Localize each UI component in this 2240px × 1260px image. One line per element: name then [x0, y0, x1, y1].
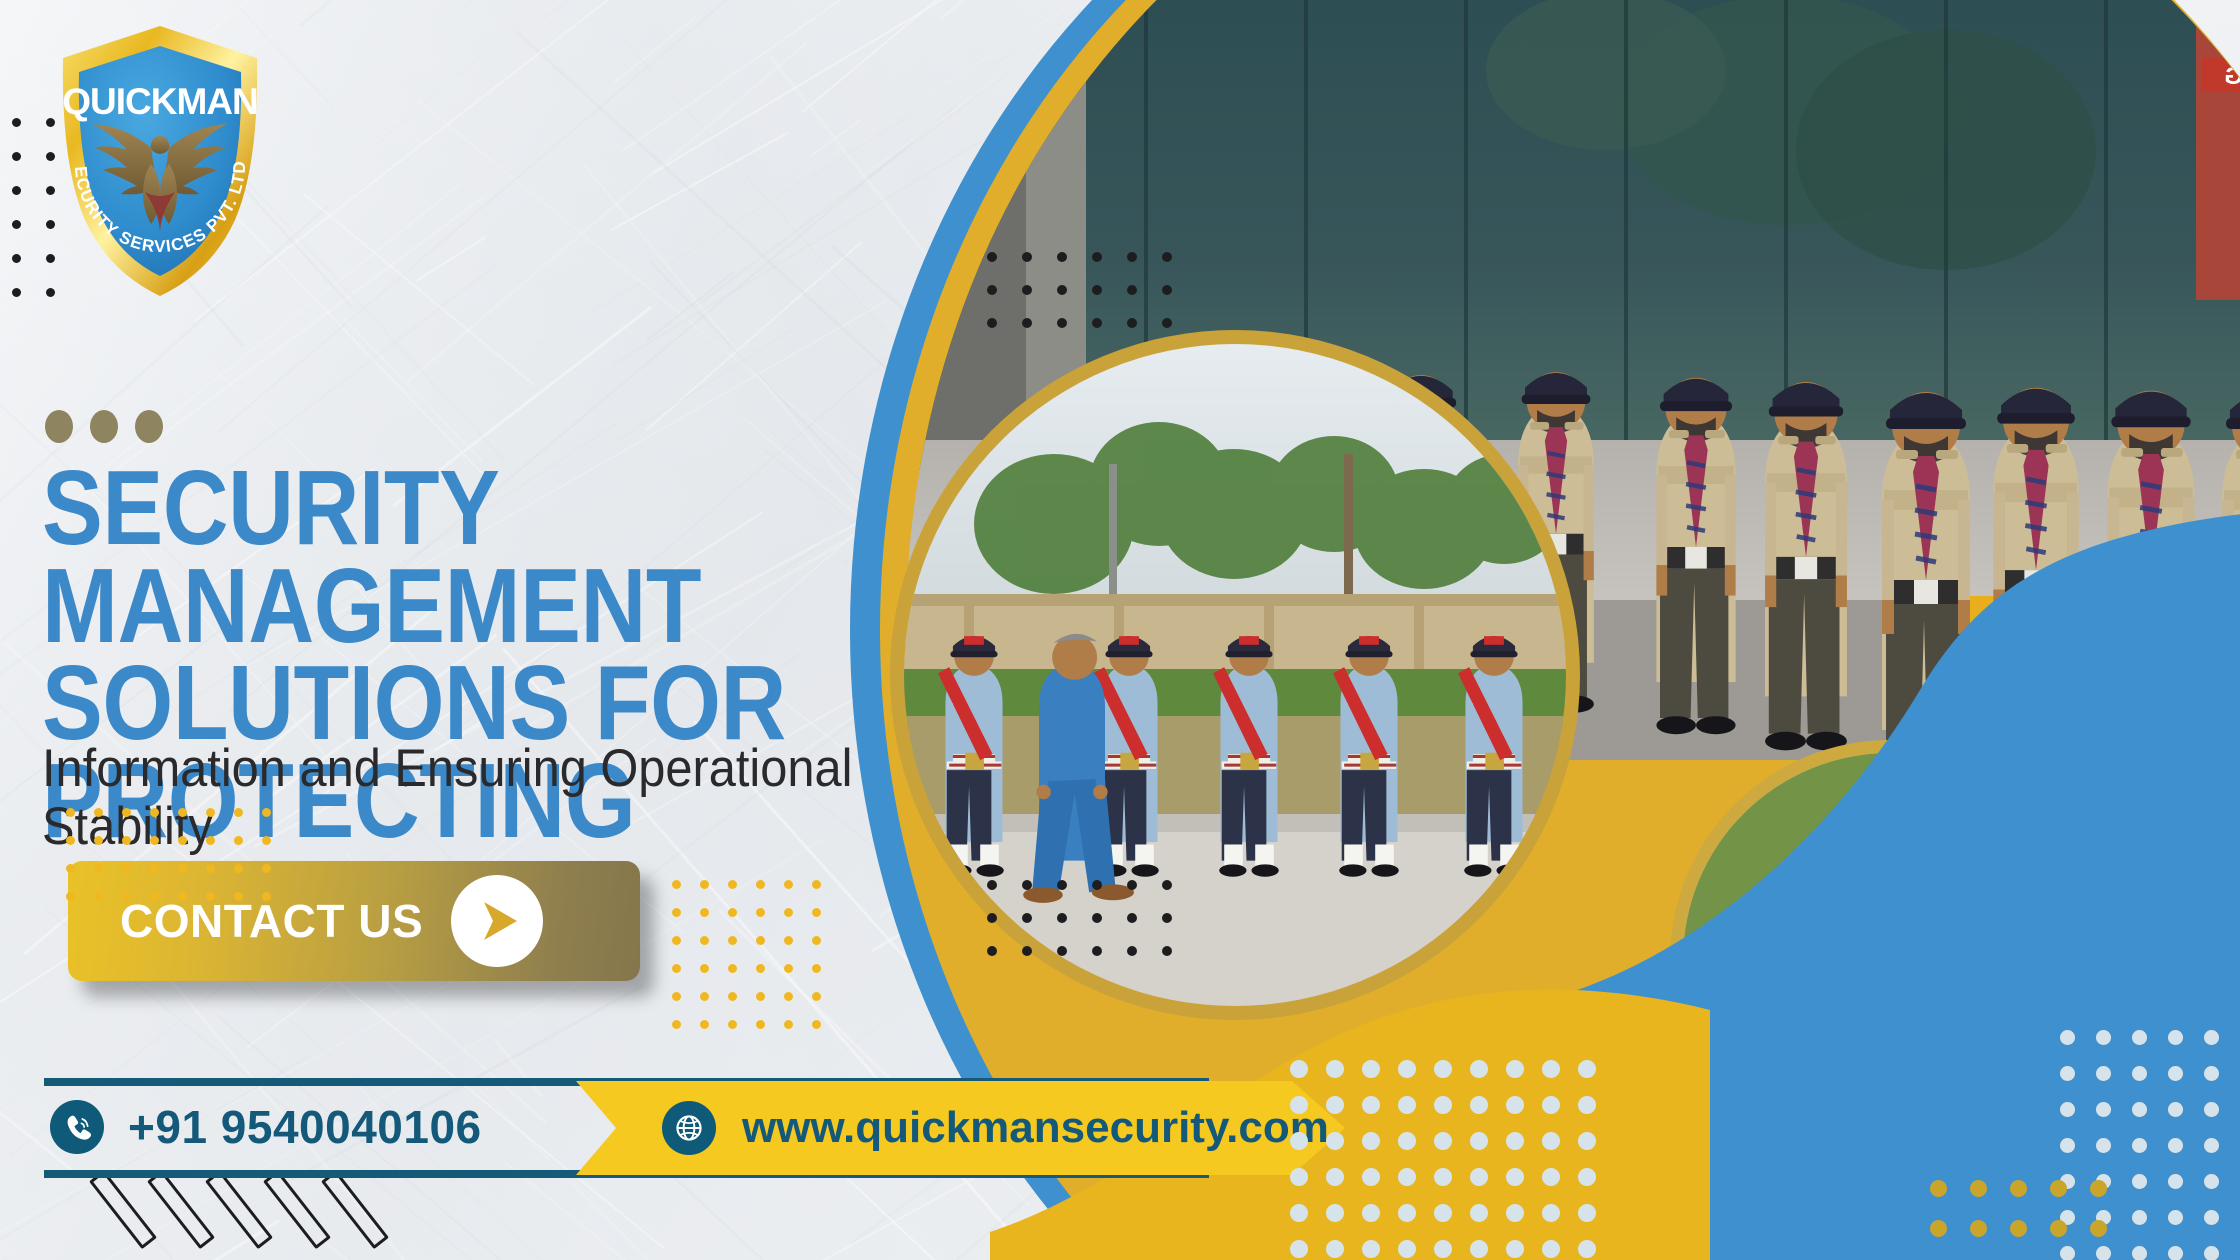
decorative-dot [987, 913, 997, 923]
decorative-dot [672, 964, 681, 973]
decorative-dot [987, 946, 997, 956]
decorative-dot [1434, 1204, 1452, 1222]
logo-name: QUICKMAN [62, 81, 257, 122]
decorative-dot [756, 936, 765, 945]
decorative-dot [150, 836, 159, 845]
decorative-dot [1092, 913, 1102, 923]
decorative-dot [672, 992, 681, 1001]
decorative-dot [2050, 1180, 2067, 1197]
decorative-dot [784, 992, 793, 1001]
decorative-dot [1434, 1096, 1452, 1114]
decorative-dot [700, 936, 709, 945]
decorative-dot [234, 892, 243, 901]
decorative-dot [66, 892, 75, 901]
kicker-dots [45, 410, 163, 443]
decorative-dot [2060, 1030, 2075, 1045]
decorative-dot [12, 254, 21, 263]
decorative-dot [2132, 1174, 2147, 1189]
decorative-dot [812, 908, 821, 917]
decorative-dot [2132, 1030, 2147, 1045]
decorative-dot [2204, 1066, 2219, 1081]
contact-footer: +91 9540040106 www.quickmansecurity.com [0, 1078, 1345, 1178]
decorative-dot [700, 908, 709, 917]
decorative-dot [1127, 318, 1137, 328]
decorative-dot [66, 836, 75, 845]
decorative-dot [206, 808, 215, 817]
decorative-dot [1506, 1168, 1524, 1186]
decorative-dot [46, 186, 55, 195]
decorative-dot [1022, 880, 1032, 890]
decorative-dot [1434, 1240, 1452, 1258]
decorative-dot [1542, 1240, 1560, 1258]
decorative-dot [2168, 1210, 2183, 1225]
decorative-dot [1506, 1132, 1524, 1150]
decorative-dot [728, 908, 737, 917]
decorative-dot [1057, 285, 1067, 295]
decorative-dot [2204, 1138, 2219, 1153]
decorative-dot [1578, 1096, 1596, 1114]
decorative-dot [987, 252, 997, 262]
decorative-dot [1398, 1132, 1416, 1150]
decorative-dot [178, 836, 187, 845]
decorative-dot [2132, 1066, 2147, 1081]
decorative-dot [672, 908, 681, 917]
decorative-dot [94, 864, 103, 873]
decorative-dot [1127, 285, 1137, 295]
decorative-dot [206, 864, 215, 873]
decorative-dot [728, 880, 737, 889]
decorative-dot [2010, 1220, 2027, 1237]
diagonal-bar [321, 1170, 389, 1249]
decorative-dot [122, 836, 131, 845]
decorative-dot [2204, 1210, 2219, 1225]
decorative-dot [1326, 1204, 1344, 1222]
kicker-dot [45, 410, 73, 443]
decorative-dot [1326, 1168, 1344, 1186]
decorative-dot [728, 964, 737, 973]
decorative-dot [1362, 1240, 1380, 1258]
phone-ringing-icon [50, 1100, 104, 1154]
decorative-dot [2168, 1246, 2183, 1260]
decorative-dot [1578, 1240, 1596, 1258]
decorative-dot [1290, 1204, 1308, 1222]
kicker-dot [90, 410, 118, 443]
phone-number: +91 9540040106 [128, 1100, 482, 1154]
decorative-dot [1290, 1240, 1308, 1258]
play-arrow-icon [451, 875, 543, 967]
decorative-dot [2060, 1138, 2075, 1153]
decorative-dot [1434, 1132, 1452, 1150]
decorative-dot [1542, 1132, 1560, 1150]
decorative-dot [2090, 1220, 2107, 1237]
decorative-dot [2132, 1102, 2147, 1117]
decorative-dot [94, 836, 103, 845]
decorative-dot [12, 152, 21, 161]
decorative-dot [756, 992, 765, 1001]
globe-icon [662, 1101, 716, 1155]
decorative-dot [46, 118, 55, 127]
decorative-dot [46, 254, 55, 263]
decorative-dot [234, 864, 243, 873]
decorative-dot [234, 836, 243, 845]
decorative-dot [1127, 913, 1137, 923]
decorative-dot [1127, 252, 1137, 262]
decorative-dot [1326, 1096, 1344, 1114]
decorative-dot [2132, 1210, 2147, 1225]
decorative-dot [1022, 318, 1032, 328]
decorative-dot [178, 864, 187, 873]
decorative-dot [2168, 1030, 2183, 1045]
decorative-dot [1162, 880, 1172, 890]
decorative-dot [2010, 1180, 2027, 1197]
decorative-dot [1362, 1132, 1380, 1150]
decorative-dot [1362, 1096, 1380, 1114]
guard-figure [1656, 378, 1735, 734]
decorative-dot [262, 836, 271, 845]
decorative-dot [12, 288, 21, 297]
decorative-dot [2132, 1246, 2147, 1260]
decorative-dot [1092, 252, 1102, 262]
decorative-dot [784, 936, 793, 945]
decorative-dot [1162, 285, 1172, 295]
decorative-dot [812, 964, 821, 973]
decorative-dot [756, 908, 765, 917]
decorative-dot [1542, 1168, 1560, 1186]
decorative-dot [1022, 913, 1032, 923]
decorative-dot [728, 936, 737, 945]
decorative-dot [94, 808, 103, 817]
decorative-dot [1470, 1168, 1488, 1186]
decorative-dot [1127, 946, 1137, 956]
decorative-dot [12, 220, 21, 229]
decorative-dot [1057, 880, 1067, 890]
decorative-dot [700, 992, 709, 1001]
decorative-dot [1578, 1168, 1596, 1186]
decorative-dot [1434, 1168, 1452, 1186]
decorative-dot [756, 880, 765, 889]
decorative-dot [1398, 1060, 1416, 1078]
decorative-dot [1326, 1132, 1344, 1150]
decorative-dot [2060, 1066, 2075, 1081]
decorative-dot [2168, 1102, 2183, 1117]
decorative-dot [1362, 1060, 1380, 1078]
decorative-dot [1326, 1060, 1344, 1078]
decorative-dot [1930, 1220, 1947, 1237]
decorative-dot [262, 808, 271, 817]
decorative-dot [756, 1020, 765, 1029]
decorative-dot [2168, 1174, 2183, 1189]
promotional-banner: NO WAITING [0, 0, 2240, 1260]
decorative-dot [66, 864, 75, 873]
decorative-dot [150, 808, 159, 817]
decorative-dot [2096, 1102, 2111, 1117]
decorative-dot [1057, 913, 1067, 923]
decorative-dot [1290, 1168, 1308, 1186]
decorative-dot [1092, 880, 1102, 890]
website-url: www.quickmansecurity.com [742, 1103, 1329, 1153]
website-banner[interactable]: www.quickmansecurity.com [576, 1081, 1345, 1175]
decorative-dot [1057, 252, 1067, 262]
decorative-dot [784, 964, 793, 973]
decorative-dot [784, 908, 793, 917]
decorative-dot [1290, 1096, 1308, 1114]
decorative-dot [1470, 1240, 1488, 1258]
decorative-dot [1542, 1096, 1560, 1114]
decorative-dot [1022, 946, 1032, 956]
decorative-dot [987, 318, 997, 328]
decorative-dot [812, 1020, 821, 1029]
decorative-dot [1162, 913, 1172, 923]
decorative-dot [1434, 1060, 1452, 1078]
decorative-dot [66, 808, 75, 817]
decorative-dot [2096, 1030, 2111, 1045]
decorative-dot [2132, 1138, 2147, 1153]
decorative-dot [178, 892, 187, 901]
decorative-dot [1542, 1204, 1560, 1222]
decorative-dot [2168, 1138, 2183, 1153]
decorative-dot [2096, 1066, 2111, 1081]
decorative-dot [1578, 1060, 1596, 1078]
decorative-dot [122, 892, 131, 901]
decorative-dot [1362, 1204, 1380, 1222]
decorative-dot [12, 118, 21, 127]
decorative-dot [728, 992, 737, 1001]
decorative-dot [1930, 1180, 1947, 1197]
decorative-dot [700, 880, 709, 889]
decorative-dot [2060, 1102, 2075, 1117]
decorative-dot [1398, 1240, 1416, 1258]
decorative-dot [1506, 1204, 1524, 1222]
decorative-dot [234, 808, 243, 817]
decorative-dot [812, 880, 821, 889]
decorative-dot [812, 936, 821, 945]
decorative-dot [672, 936, 681, 945]
decorative-dot [1127, 880, 1137, 890]
decorative-dot [1162, 946, 1172, 956]
decorative-dot [122, 808, 131, 817]
decorative-dot [262, 892, 271, 901]
decorative-dot [1970, 1220, 1987, 1237]
decorative-dot [1578, 1132, 1596, 1150]
decorative-dot [206, 892, 215, 901]
decorative-dot [1022, 252, 1032, 262]
decorative-dot [1470, 1204, 1488, 1222]
decorative-dot [46, 220, 55, 229]
decorative-dot [1162, 252, 1172, 262]
decorative-dot [12, 186, 21, 195]
decorative-dot [1398, 1096, 1416, 1114]
decorative-dot [2204, 1174, 2219, 1189]
decorative-dot [1398, 1204, 1416, 1222]
decorative-dot [150, 864, 159, 873]
decorative-dot [1162, 318, 1172, 328]
decorative-dot [784, 880, 793, 889]
decorative-dot [2204, 1030, 2219, 1045]
decorative-dot [1362, 1168, 1380, 1186]
decorative-dot [122, 864, 131, 873]
decorative-dot [700, 964, 709, 973]
decorative-dot [987, 285, 997, 295]
decorative-dot [262, 864, 271, 873]
decorative-dot [784, 1020, 793, 1029]
decorative-dot [1092, 318, 1102, 328]
decorative-dot [1506, 1060, 1524, 1078]
decorative-dot [1290, 1132, 1308, 1150]
decorative-dot [672, 880, 681, 889]
decorative-dot [700, 1020, 709, 1029]
decorative-dot [2096, 1138, 2111, 1153]
decorative-dot [1092, 946, 1102, 956]
decorative-dot [2204, 1246, 2219, 1260]
decorative-dot [206, 836, 215, 845]
decorative-dot [1506, 1096, 1524, 1114]
decorative-dot [1290, 1060, 1308, 1078]
decorative-dot [1022, 285, 1032, 295]
kicker-dot [135, 410, 163, 443]
decorative-dot [94, 892, 103, 901]
decorative-dot [756, 964, 765, 973]
svg-text:NO WAITING: NO WAITING [2224, 63, 2240, 90]
decorative-dot [1578, 1204, 1596, 1222]
decorative-dot [1506, 1240, 1524, 1258]
decorative-dot [812, 992, 821, 1001]
decorative-dot [46, 288, 55, 297]
guard-figure [1765, 382, 1847, 750]
decorative-dot [150, 892, 159, 901]
decorative-dot [1326, 1240, 1344, 1258]
decorative-dot [1057, 946, 1067, 956]
decorative-dot [46, 152, 55, 161]
decorative-dot [178, 808, 187, 817]
decorative-dot [1970, 1180, 1987, 1197]
decorative-dot [1398, 1168, 1416, 1186]
decorative-dot [1470, 1096, 1488, 1114]
decorative-dot [1092, 285, 1102, 295]
decorative-dot [1470, 1132, 1488, 1150]
decorative-dot [1470, 1060, 1488, 1078]
decorative-dot [1057, 318, 1067, 328]
decorative-dot [987, 880, 997, 890]
decorative-dot [2168, 1066, 2183, 1081]
decorative-dot [1542, 1060, 1560, 1078]
decorative-dot [2204, 1102, 2219, 1117]
decorative-dot [672, 1020, 681, 1029]
decorative-dot [2050, 1220, 2067, 1237]
no-waiting-sign: NO WAITING [2202, 58, 2240, 92]
phone-contact[interactable]: +91 9540040106 [50, 1100, 482, 1154]
decorative-dot [2090, 1180, 2107, 1197]
decorative-dot [728, 1020, 737, 1029]
